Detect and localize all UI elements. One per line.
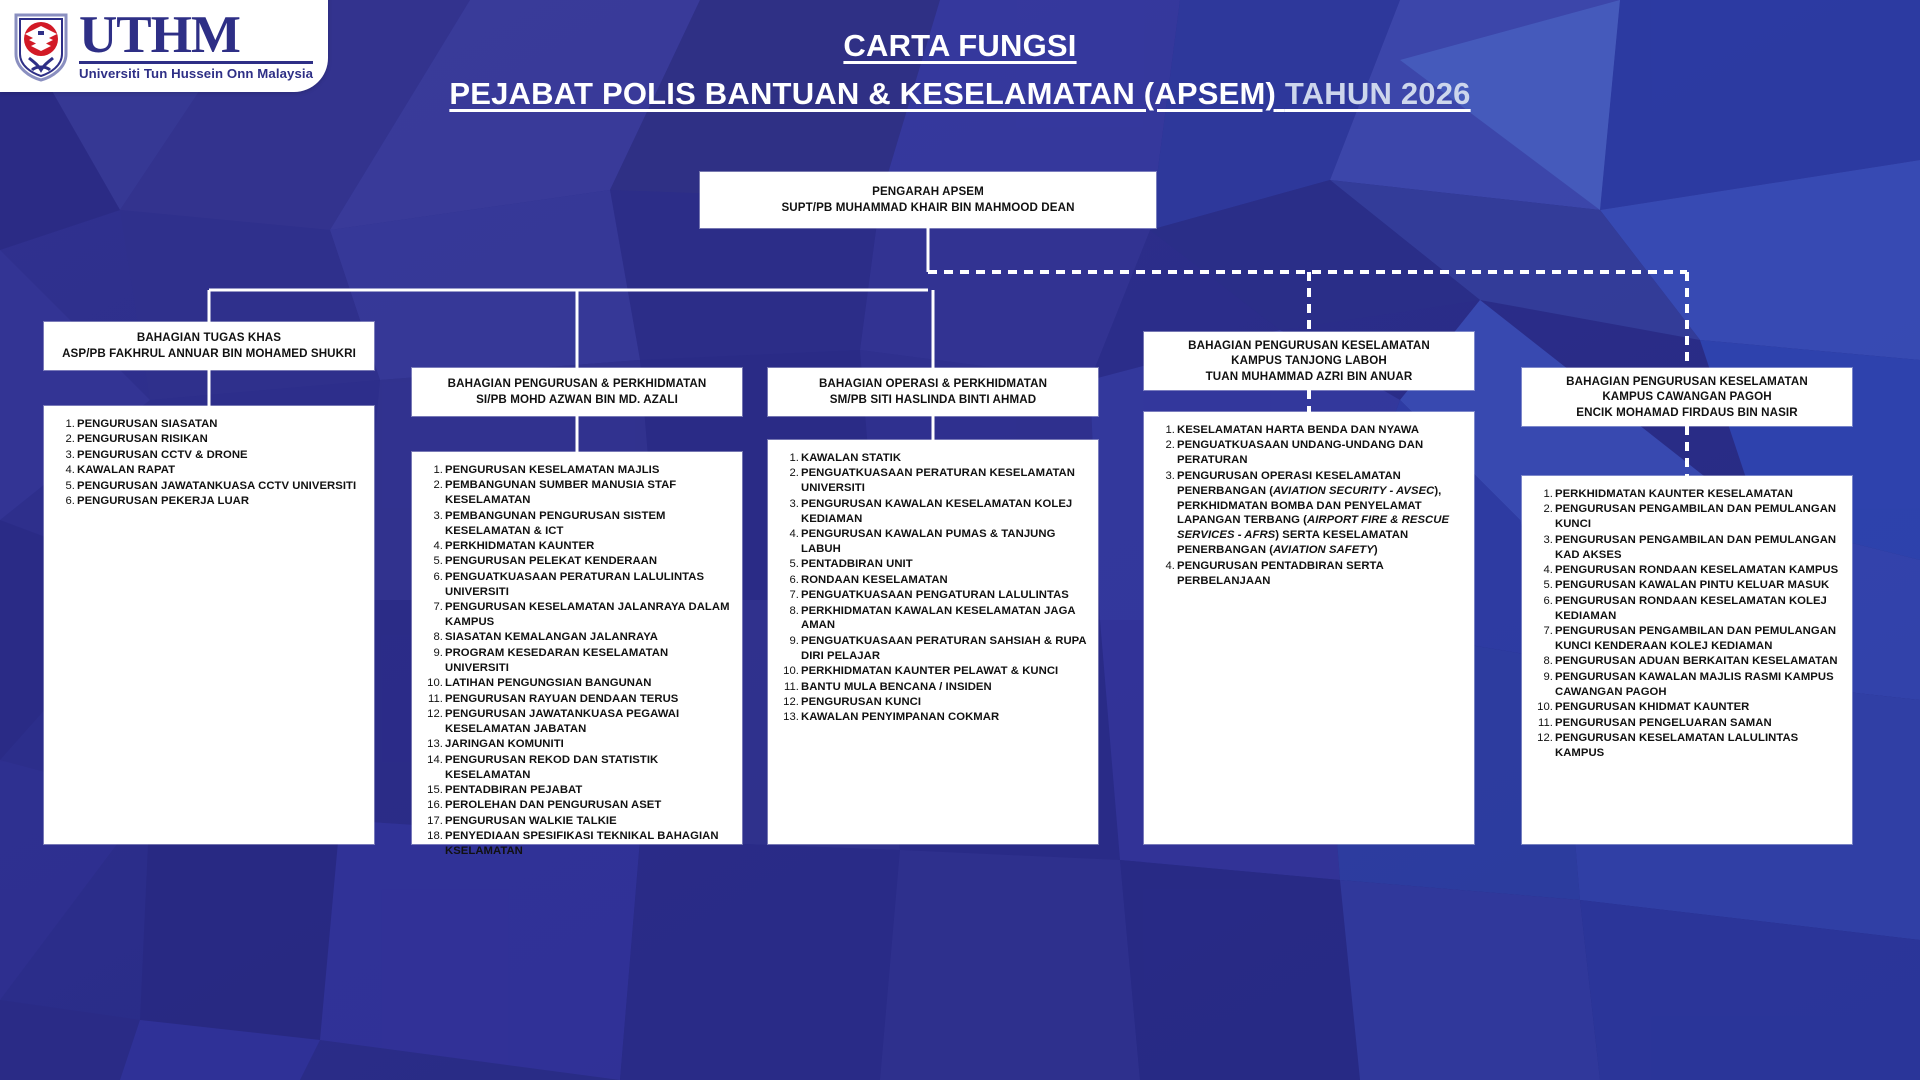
division-campus: KAMPUS TANJONG LABOH — [1188, 353, 1430, 369]
division-lead: SI/PB MOHD AZWAN BIN MD. AZALI — [448, 392, 707, 408]
function-item: PENGURUSAN KAWALAN PUMAS & TANJUNG LABUH — [779, 527, 1089, 557]
function-item: PERKHIDMATAN KAUNTER — [423, 539, 733, 554]
division-header-kampus-tanjong-laboh[interactable]: BAHAGIAN PENGURUSAN KESELAMATAN KAMPUS T… — [1144, 332, 1474, 390]
function-item: KAWALAN RAPAT — [55, 463, 365, 478]
function-item: PENGUATKUASAAN PERATURAN KESELAMATAN UNI… — [779, 466, 1089, 496]
division-campus: KAMPUS CAWANGAN PAGOH — [1566, 389, 1808, 405]
function-item: PENGURUSAN PENGAMBILAN DAN PEMULANGAN KA… — [1533, 533, 1843, 563]
function-item: PENGURUSAN KESELAMATAN LALULINTAS KAMPUS — [1533, 731, 1843, 761]
function-item: PENGURUSAN JAWATANKUASA PEGAWAI KESELAMA… — [423, 707, 733, 737]
function-item: PENGURUSAN RISIKAN — [55, 432, 365, 447]
division-title: BAHAGIAN PENGURUSAN & PERKHIDMATAN — [448, 376, 707, 392]
director-title: PENGARAH APSEM — [781, 184, 1074, 200]
function-item: PENGURUSAN RONDAAN KESELAMATAN KAMPUS — [1533, 563, 1843, 578]
function-item: PENGUATKUASAAN UNDANG-UNDANG DAN PERATUR… — [1155, 438, 1465, 468]
function-item: LATIHAN PENGUNGSIAN BANGUNAN — [423, 676, 733, 691]
function-item: PENGURUSAN KHIDMAT KAUNTER — [1533, 700, 1843, 715]
function-item: PENGURUSAN KAWALAN MAJLIS RASMI KAMPUS C… — [1533, 670, 1843, 700]
function-item: PENGURUSAN PEKERJA LUAR — [55, 494, 365, 509]
function-item: JARINGAN KOMUNITI — [423, 737, 733, 752]
function-item: PENGURUSAN OPERASI KESELAMATAN PENERBANG… — [1155, 469, 1465, 558]
function-item: KAWALAN PENYIMPANAN COKMAR — [779, 710, 1089, 725]
division-title: BAHAGIAN OPERASI & PERKHIDMATAN — [819, 376, 1047, 392]
director-name: SUPT/PB MUHAMMAD KHAIR BIN MAHMOOD DEAN — [781, 200, 1074, 216]
function-item: PENGURUSAN KAWALAN PINTU KELUAR MASUK — [1533, 578, 1843, 593]
function-list: PENGURUSAN SIASATANPENGURUSAN RISIKANPEN… — [55, 417, 365, 509]
division-functions-operasi-perkhidmatan[interactable]: KAWALAN STATIKPENGUATKUASAAN PERATURAN K… — [768, 440, 1098, 844]
function-item: PENGUATKUASAAN PENGATURAN LALULINTAS — [779, 588, 1089, 603]
function-item: PERKHIDMATAN KAWALAN KESELAMATAN JAGA AM… — [779, 604, 1089, 634]
division-functions-kampus-tanjong-laboh[interactable]: KESELAMATAN HARTA BENDA DAN NYAWAPENGUAT… — [1144, 412, 1474, 844]
function-item: PERKHIDMATAN KAUNTER KESELAMATAN — [1533, 487, 1843, 502]
function-item: RONDAAN KESELAMATAN — [779, 573, 1089, 588]
function-item: PENGURUSAN KUNCI — [779, 695, 1089, 710]
division-header-pengurusan-perkhidmatan[interactable]: BAHAGIAN PENGURUSAN & PERKHIDMATAN SI/PB… — [412, 368, 742, 416]
division-title: BAHAGIAN TUGAS KHAS — [62, 330, 356, 346]
function-item: PENGURUSAN JAWATANKUASA CCTV UNIVERSITI — [55, 479, 365, 494]
function-item: PEMBANGUNAN PENGURUSAN SISTEM KESELAMATA… — [423, 509, 733, 539]
function-item: PENGURUSAN RONDAAN KESELAMATAN KOLEJ KED… — [1533, 594, 1843, 624]
function-item: PENGURUSAN CCTV & DRONE — [55, 448, 365, 463]
division-functions-pengurusan-perkhidmatan[interactable]: PENGURUSAN KESELAMATAN MAJLISPEMBANGUNAN… — [412, 452, 742, 844]
function-item: PENGURUSAN PENGELUARAN SAMAN — [1533, 716, 1843, 731]
division-header-kampus-cawangan-pagoh[interactable]: BAHAGIAN PENGURUSAN KESELAMATAN KAMPUS C… — [1522, 368, 1852, 426]
function-item: PENGURUSAN KESELAMATAN MAJLIS — [423, 463, 733, 478]
function-item: PENGURUSAN PENGAMBILAN DAN PEMULANGAN KU… — [1533, 624, 1843, 654]
division-lead: ENCIK MOHAMAD FIRDAUS BIN NASIR — [1566, 405, 1808, 421]
function-item: PENGURUSAN SIASATAN — [55, 417, 365, 432]
division-functions-tugas-khas[interactable]: PENGURUSAN SIASATANPENGURUSAN RISIKANPEN… — [44, 406, 374, 844]
function-list: PERKHIDMATAN KAUNTER KESELAMATANPENGURUS… — [1533, 487, 1843, 761]
function-item: PENGURUSAN WALKIE TALKIE — [423, 814, 733, 829]
function-item: PENGURUSAN REKOD DAN STATISTIK KESELAMAT… — [423, 753, 733, 783]
function-item: PENYEDIAAN SPESIFIKASI TEKNIKAL BAHAGIAN… — [423, 829, 733, 859]
function-item: PENGURUSAN PELEKAT KENDERAAN — [423, 554, 733, 569]
function-item: PENGURUSAN KESELAMATAN JALANRAYA DALAM K… — [423, 600, 733, 630]
division-lead: TUAN MUHAMMAD AZRI BIN ANUAR — [1188, 369, 1430, 385]
function-item: PENGURUSAN KAWALAN KESELAMATAN KOLEJ KED… — [779, 497, 1089, 527]
function-item: PENGURUSAN ADUAN BERKAITAN KESELAMATAN — [1533, 654, 1843, 669]
division-header-tugas-khas[interactable]: BAHAGIAN TUGAS KHAS ASP/PB FAKHRUL ANNUA… — [44, 322, 374, 370]
function-item: PEMBANGUNAN SUMBER MANUSIA STAF KESELAMA… — [423, 478, 733, 508]
function-list: KESELAMATAN HARTA BENDA DAN NYAWAPENGUAT… — [1155, 423, 1465, 588]
function-item: PERKHIDMATAN KAUNTER PELAWAT & KUNCI — [779, 664, 1089, 679]
division-lead: ASP/PB FAKHRUL ANNUAR BIN MOHAMED SHUKRI — [62, 346, 356, 362]
function-item: PEROLEHAN DAN PENGURUSAN ASET — [423, 798, 733, 813]
division-header-operasi-perkhidmatan[interactable]: BAHAGIAN OPERASI & PERKHIDMATAN SM/PB SI… — [768, 368, 1098, 416]
org-chart-canvas: UTHM Universiti Tun Hussein Onn Malaysia… — [0, 0, 1920, 1080]
function-item: PENGURUSAN RAYUAN DENDAAN TERUS — [423, 692, 733, 707]
function-item: PENGURUSAN PENGAMBILAN DAN PEMULANGAN KU… — [1533, 502, 1843, 532]
function-item: SIASATAN KEMALANGAN JALANRAYA — [423, 630, 733, 645]
function-item: PENTADBIRAN PEJABAT — [423, 783, 733, 798]
function-item: PENGUATKUASAAN PERATURAN SAHSIAH & RUPA … — [779, 634, 1089, 664]
division-title: BAHAGIAN PENGURUSAN KESELAMATAN — [1188, 338, 1430, 354]
function-list: PENGURUSAN KESELAMATAN MAJLISPEMBANGUNAN… — [423, 463, 733, 859]
function-item: PENGUATKUASAAN PERATURAN LALULINTAS UNIV… — [423, 570, 733, 600]
function-item: PROGRAM KESEDARAN KESELAMATAN UNIVERSITI — [423, 646, 733, 676]
function-list: KAWALAN STATIKPENGUATKUASAAN PERATURAN K… — [779, 451, 1089, 725]
division-functions-kampus-cawangan-pagoh[interactable]: PERKHIDMATAN KAUNTER KESELAMATANPENGURUS… — [1522, 476, 1852, 844]
division-title: BAHAGIAN PENGURUSAN KESELAMATAN — [1566, 374, 1808, 390]
function-item: KESELAMATAN HARTA BENDA DAN NYAWA — [1155, 423, 1465, 438]
director-box[interactable]: PENGARAH APSEM SUPT/PB MUHAMMAD KHAIR BI… — [700, 172, 1156, 228]
division-lead: SM/PB SITI HASLINDA BINTI AHMAD — [819, 392, 1047, 408]
function-item: KAWALAN STATIK — [779, 451, 1089, 466]
function-item: BANTU MULA BENCANA / INSIDEN — [779, 680, 1089, 695]
function-item: PENTADBIRAN UNIT — [779, 557, 1089, 572]
function-item: PENGURUSAN PENTADBIRAN SERTA PERBELANJAA… — [1155, 559, 1465, 589]
